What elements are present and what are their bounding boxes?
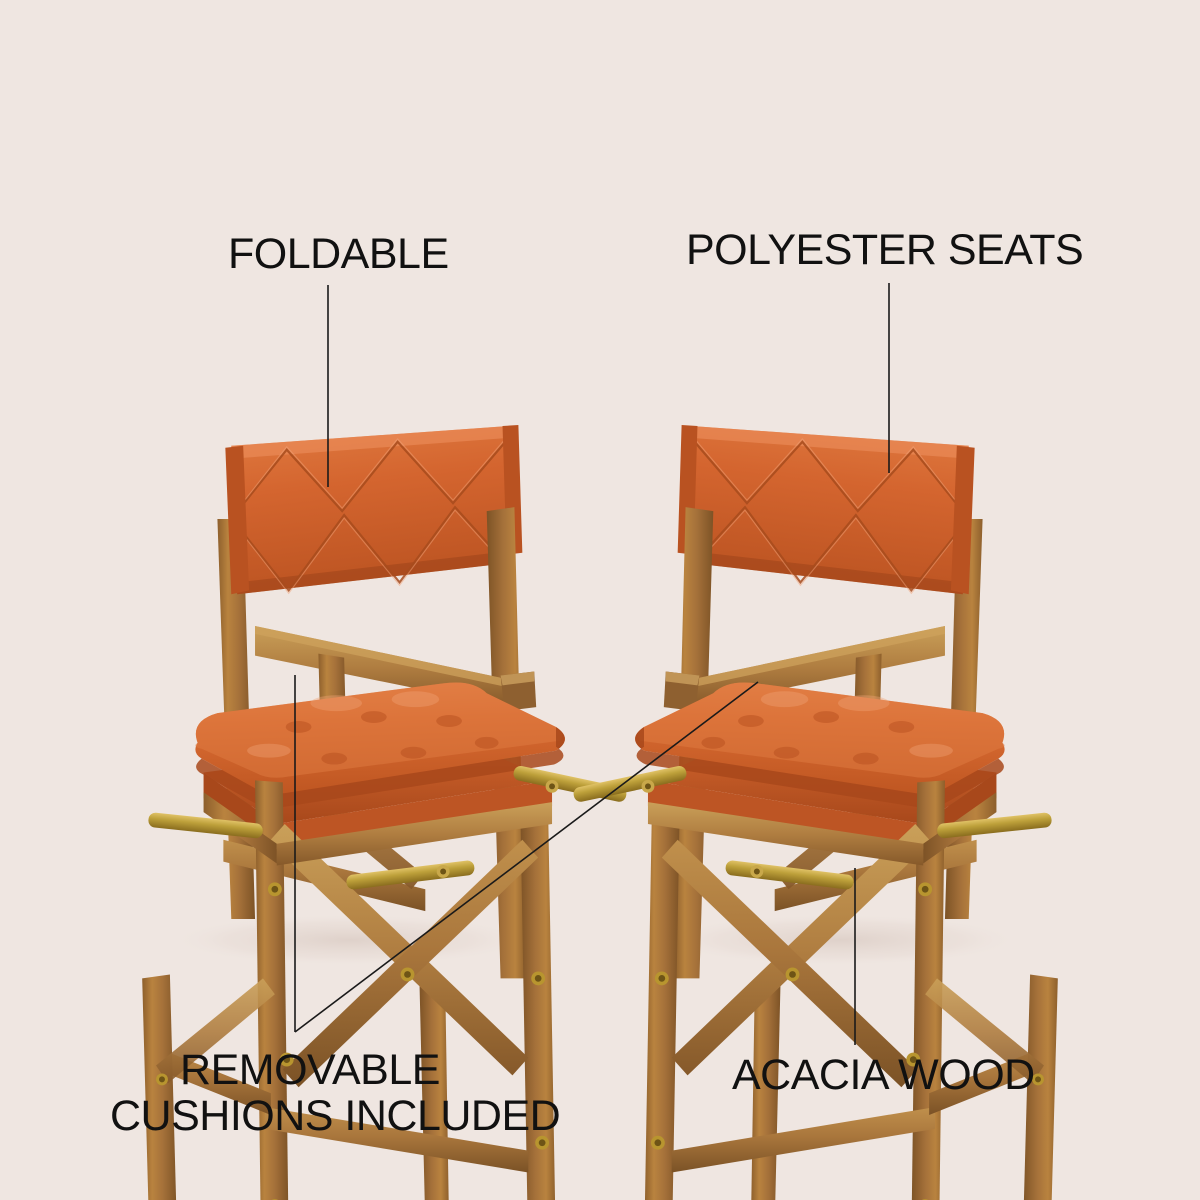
- callout-label-acacia-wood: ACACIA WOOD: [732, 1053, 1035, 1099]
- chair-shadow-left: [170, 914, 530, 966]
- callout-label-removable-cushions: REMOVABLECUSHIONS INCLUDED: [110, 1048, 510, 1139]
- callout-label-foldable: FOLDABLE: [228, 232, 449, 278]
- removable-line-1: REMOVABLE: [180, 1046, 440, 1094]
- infographic-canvas: FOLDABLE POLYESTER SEATS REMOVABLECUSHIO…: [0, 0, 1200, 1200]
- removable-line-2: CUSHIONS INCLUDED: [110, 1092, 560, 1140]
- product-illustration: [0, 0, 1200, 1200]
- callout-label-polyester-seats: POLYESTER SEATS: [686, 228, 1083, 274]
